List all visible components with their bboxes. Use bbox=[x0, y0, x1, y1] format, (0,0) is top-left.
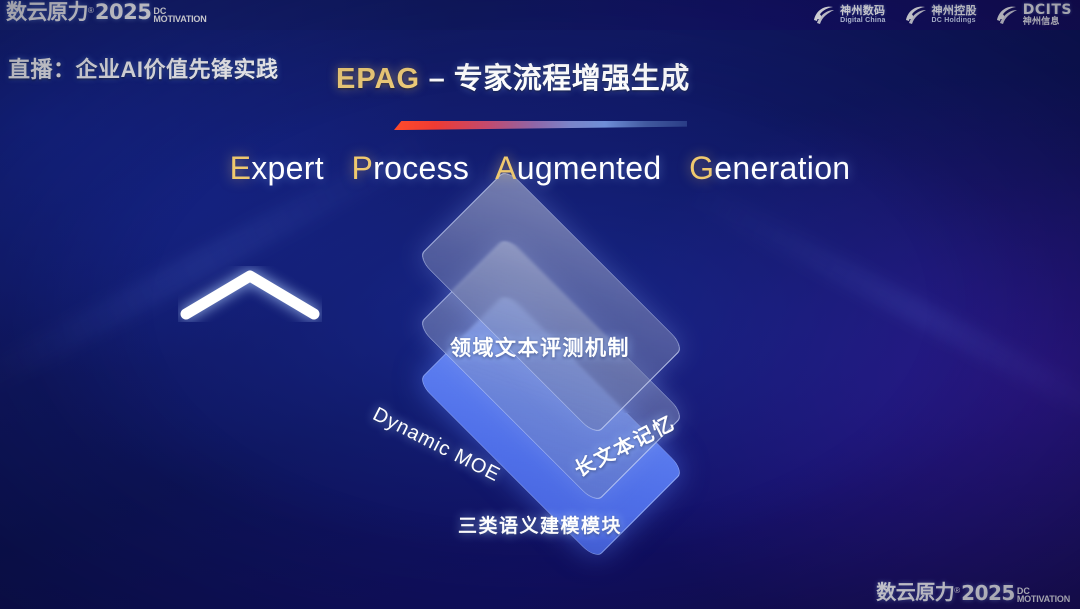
brand-year: 2025 bbox=[961, 583, 1015, 603]
brand-dc-motivation: DC MOTIVATION bbox=[153, 7, 206, 24]
expansion-rest: eneration bbox=[714, 150, 850, 186]
partner-logo-text: 神州数码 Digital China bbox=[840, 6, 885, 24]
partner-logo-text: DCITS 神州信息 bbox=[1023, 3, 1072, 26]
diagram-label-top-layer: 领域文本评测机制 bbox=[0, 332, 1080, 362]
brand-name-cn: 数云原力 bbox=[876, 583, 954, 603]
headline-title-cn: 专家流程增强生成 bbox=[454, 63, 690, 95]
brand-logo-top: 数云原力®2025 DC MOTIVATION bbox=[6, 2, 207, 23]
partner-logo-dcits: DCITS 神州信息 bbox=[995, 3, 1072, 26]
diagram-label-bottom-layer: 三类语义建模模块 bbox=[0, 511, 1080, 538]
brand-registered-mark: ® bbox=[954, 586, 960, 595]
headline-separator: – bbox=[420, 63, 454, 95]
expansion-rest: rocess bbox=[373, 150, 469, 186]
expansion-space bbox=[671, 150, 680, 186]
partner-logo-digital-china: 神州数码 Digital China bbox=[812, 4, 885, 26]
brand-registered-mark: ® bbox=[88, 6, 94, 15]
expansion-word-expert: Expert bbox=[230, 150, 324, 186]
expansion-space bbox=[478, 150, 487, 186]
partner-name-en: DC Holdings bbox=[932, 17, 977, 24]
brand-name-cn: 数云原力 bbox=[6, 2, 88, 23]
expansion-word-generation: Generation bbox=[689, 150, 850, 186]
expansion-initial: G bbox=[689, 150, 714, 186]
partner-logo-group: 神州数码 Digital China 神州控股 DC Holdings bbox=[812, 3, 1072, 26]
expansion-rest: ugmented bbox=[517, 150, 662, 186]
brand-dc-line2: MOTIVATION bbox=[1017, 595, 1070, 604]
expansion-initial: P bbox=[352, 150, 374, 186]
partner-name-cn: 神州数码 bbox=[840, 6, 885, 17]
swirl-logo-icon bbox=[904, 4, 928, 26]
partner-name-en: Digital China bbox=[840, 17, 885, 24]
brand-dc-motivation: DC MOTIVATION bbox=[1017, 587, 1070, 604]
slide-headline: EPAG – 专家流程增强生成 bbox=[336, 55, 690, 97]
gradient-divider bbox=[394, 121, 687, 130]
brand-logo-bottom: 数云原力®2025 DC MOTIVATION bbox=[876, 583, 1070, 603]
chevron-up-icon bbox=[178, 266, 322, 322]
partner-logo-text: 神州控股 DC Holdings bbox=[932, 6, 977, 24]
live-session-subtitle: 直播：企业AI价值先锋实践 bbox=[8, 52, 279, 84]
presentation-slide: 数云原力®2025 DC MOTIVATION 神州数码 Digital Chi… bbox=[0, 0, 1080, 609]
swirl-logo-icon bbox=[995, 4, 1019, 26]
partner-name-cn: 神州控股 bbox=[932, 6, 977, 17]
expansion-word-process: Process bbox=[352, 150, 470, 186]
acronym-expansion-line: Expert Process Augmented Generation bbox=[0, 150, 1080, 187]
expansion-space bbox=[333, 150, 342, 186]
brand-dc-line2: MOTIVATION bbox=[153, 15, 206, 24]
expansion-rest: xpert bbox=[251, 150, 324, 186]
swirl-logo-icon bbox=[812, 4, 836, 26]
expansion-word-augmented: Augmented bbox=[495, 150, 661, 186]
expansion-initial: A bbox=[495, 150, 517, 186]
partner-name-en: 神州信息 bbox=[1023, 17, 1072, 26]
partner-logo-dc-holdings: 神州控股 DC Holdings bbox=[904, 4, 977, 26]
headline-acronym: EPAG bbox=[336, 63, 420, 95]
expansion-initial: E bbox=[230, 150, 252, 186]
brand-year: 2025 bbox=[95, 2, 151, 23]
